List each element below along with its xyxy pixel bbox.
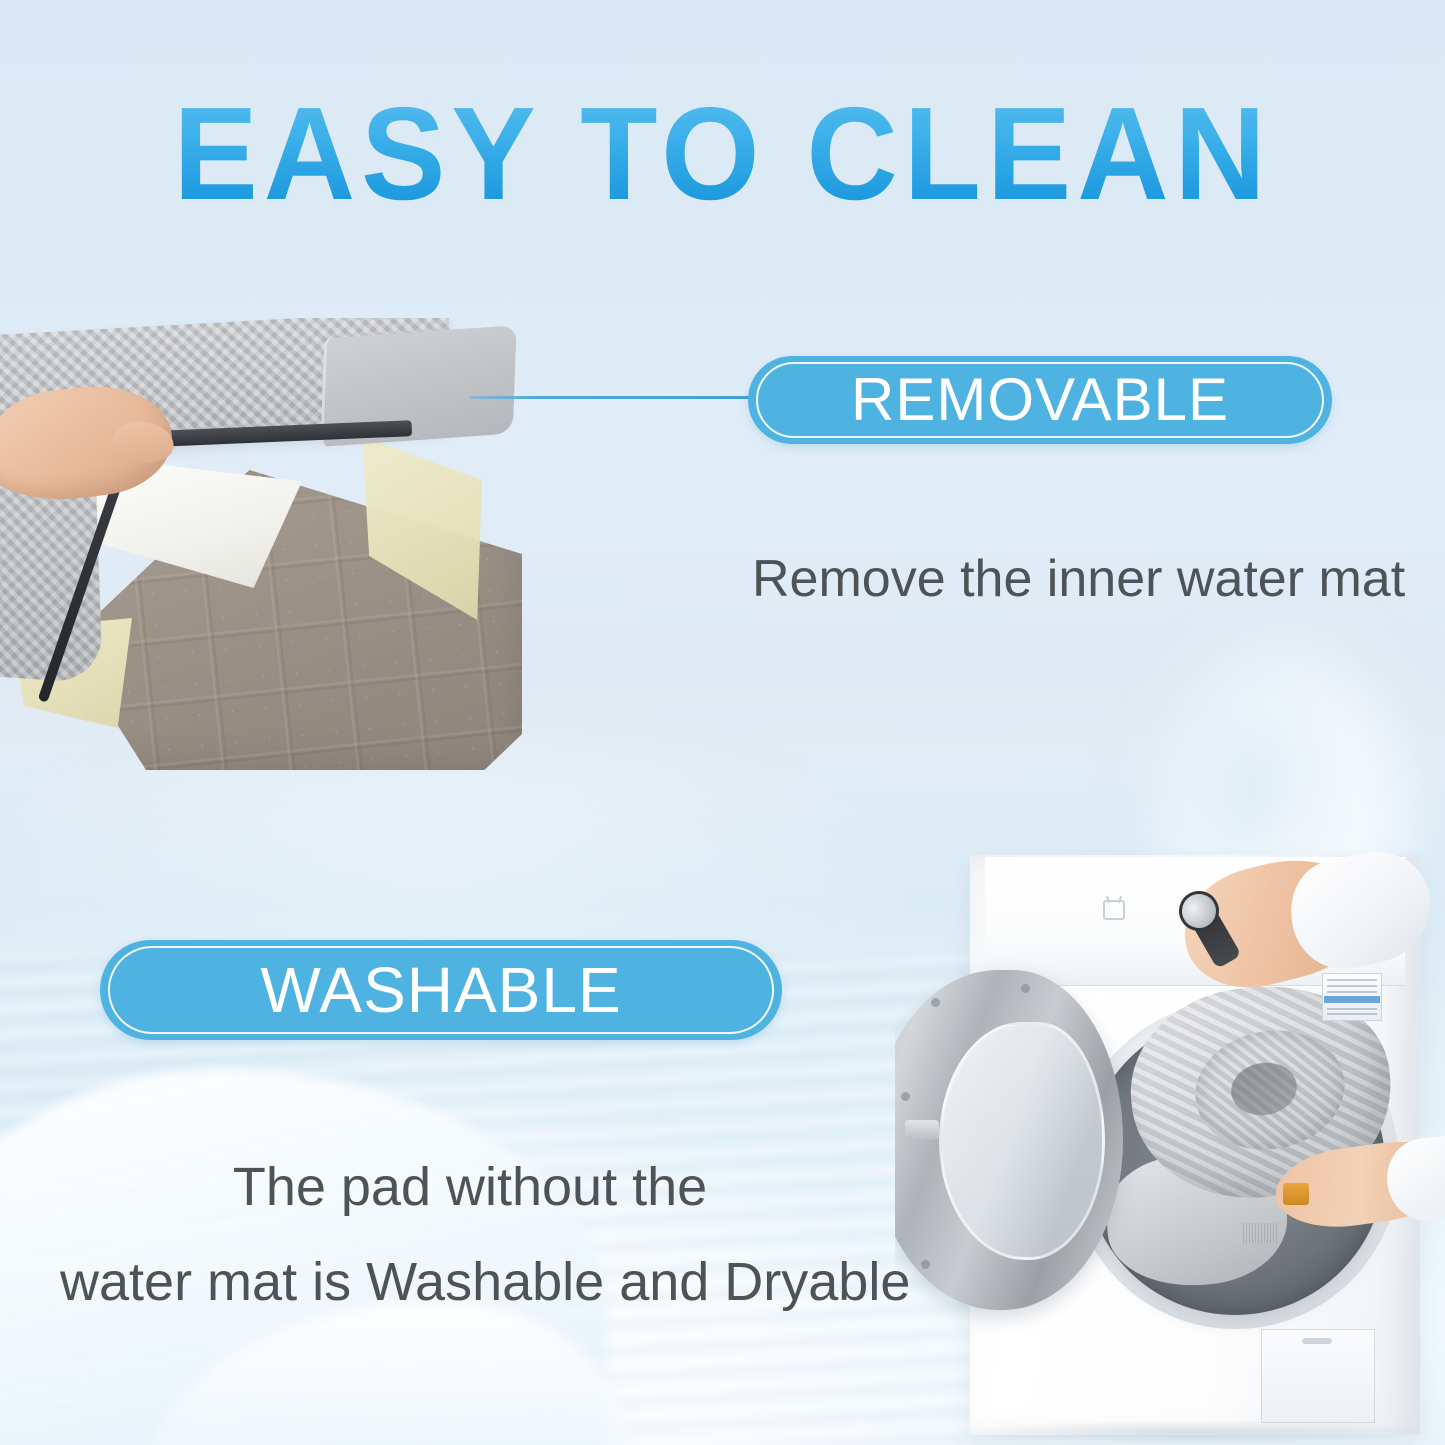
photo-washable-machine xyxy=(895,845,1445,1445)
machine-ground-shadow xyxy=(965,1421,1425,1443)
barcode-sticker xyxy=(1243,1223,1279,1243)
badge-removable-label: REMOVABLE xyxy=(851,370,1229,430)
energy-rating-sticker xyxy=(1322,973,1382,1021)
connector-line-removable xyxy=(470,396,758,399)
door-vent-dot xyxy=(901,1092,910,1101)
sticker-color-band xyxy=(1324,996,1380,1003)
brand-logo-icon xyxy=(1103,900,1125,920)
sticker-text-line xyxy=(1327,1008,1377,1010)
door-latch-icon xyxy=(905,1120,939,1140)
page-title: EASY TO CLEAN xyxy=(29,88,1416,220)
badge-removable[interactable]: REMOVABLE xyxy=(748,356,1332,444)
caption-washable: The pad without the water mat is Washabl… xyxy=(60,1140,880,1329)
drawer-handle-icon xyxy=(1302,1338,1332,1344)
caption-washable-line-2: water mat is Washable and Dryable xyxy=(60,1235,880,1330)
product-feature-graphic: EASY TO CLEAN REMOVABLE Remove the inner… xyxy=(0,0,1445,1445)
door-vent-dot xyxy=(1021,984,1030,993)
warning-sticker-icon xyxy=(1283,1183,1309,1205)
sticker-text-line xyxy=(1327,1013,1377,1015)
badge-washable-label: WASHABLE xyxy=(260,958,621,1022)
badge-washable[interactable]: WASHABLE xyxy=(100,940,782,1040)
door-glass xyxy=(939,1022,1105,1260)
caption-removable: Remove the inner water mat xyxy=(752,550,1386,610)
door-vent-dot xyxy=(931,998,940,1007)
sticker-text-line xyxy=(1327,979,1377,981)
door-vent-dot xyxy=(921,1260,930,1269)
sticker-text-line xyxy=(1327,985,1377,987)
detergent-drawer[interactable] xyxy=(1261,1329,1375,1423)
caption-washable-line-1: The pad without the xyxy=(60,1140,880,1235)
sticker-text-line xyxy=(1327,991,1377,993)
photo-removable-mat xyxy=(0,318,522,778)
